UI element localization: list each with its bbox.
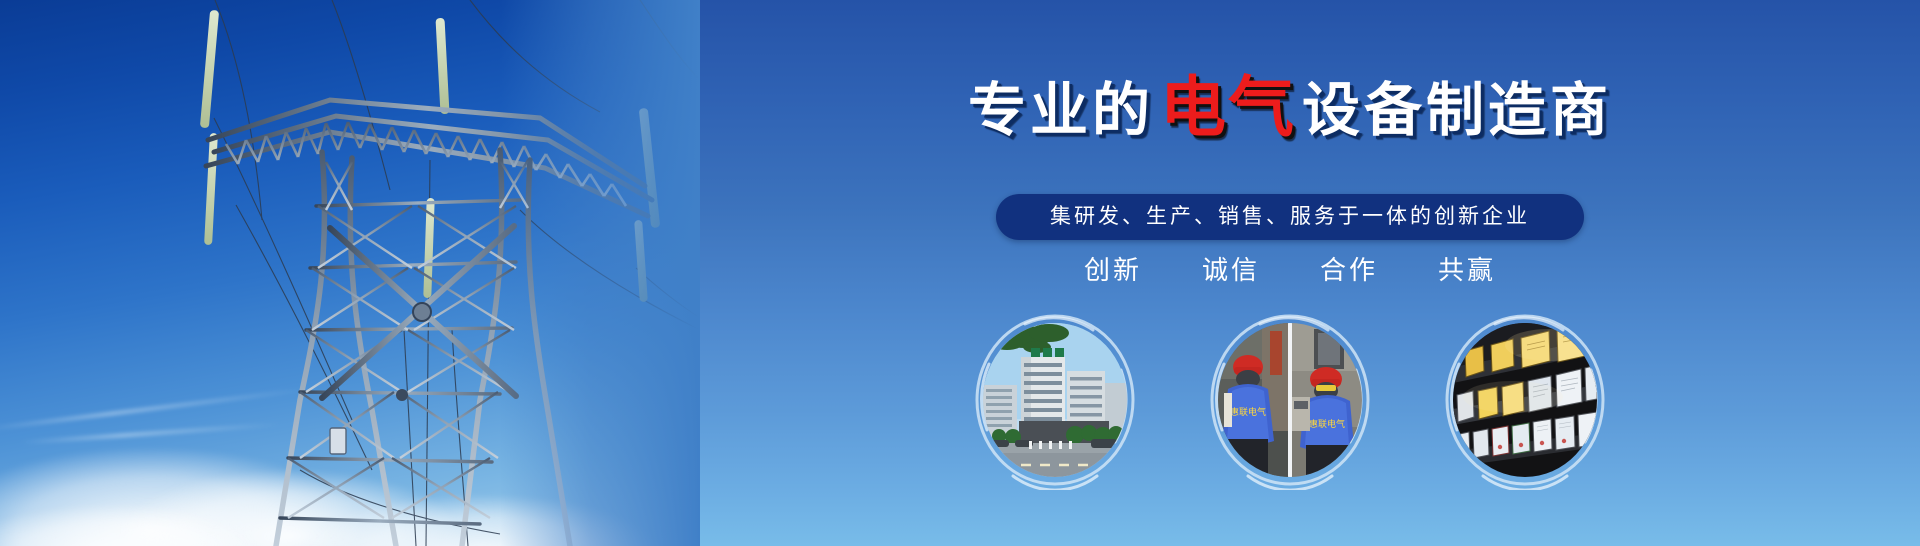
tower-hub xyxy=(413,303,431,321)
photo-building xyxy=(983,323,1127,477)
transmission-tower-photo xyxy=(0,0,700,546)
photo-medallion-technicians: 惠联电气 xyxy=(1200,310,1380,490)
banner-headline: 专业的电气设备制造商 xyxy=(660,74,1920,140)
keyword-winwin: 共赢 xyxy=(1438,250,1496,287)
keyword-integrity: 诚信 xyxy=(1202,250,1260,287)
svg-text:惠联电气: 惠联电气 xyxy=(1309,418,1345,429)
banner-subtitle-pill: 集研发、生产、销售、服务于一体的创新企业 xyxy=(996,194,1584,240)
banner-photo-row: 惠联电气 xyxy=(660,310,1920,490)
photo-medallion-certificates xyxy=(1435,310,1615,490)
svg-text:惠联电气: 惠联电气 xyxy=(1230,406,1266,417)
photo-technicians: 惠联电气 xyxy=(1218,323,1362,477)
banner-content: 专业的电气设备制造商 集研发、生产、销售、服务于一体的创新企业 创新 诚信 合作… xyxy=(660,0,1920,546)
headline-part-one: 专业的 xyxy=(968,78,1154,143)
photo-medallion-building xyxy=(965,310,1145,490)
banner-subtitle-wrap: 集研发、生产、销售、服务于一体的创新企业 xyxy=(660,194,1920,240)
headline-highlight: 电气 xyxy=(1160,70,1296,144)
keyword-innovation: 创新 xyxy=(1084,250,1142,287)
banner-keywords: 创新 诚信 合作 共赢 xyxy=(660,250,1920,287)
headline-part-two: 设备制造商 xyxy=(1302,78,1612,143)
photo-certificates xyxy=(1453,323,1597,477)
keyword-cooperation: 合作 xyxy=(1320,250,1378,287)
hero-banner: 专业的电气设备制造商 集研发、生产、销售、服务于一体的创新企业 创新 诚信 合作… xyxy=(0,0,1920,546)
